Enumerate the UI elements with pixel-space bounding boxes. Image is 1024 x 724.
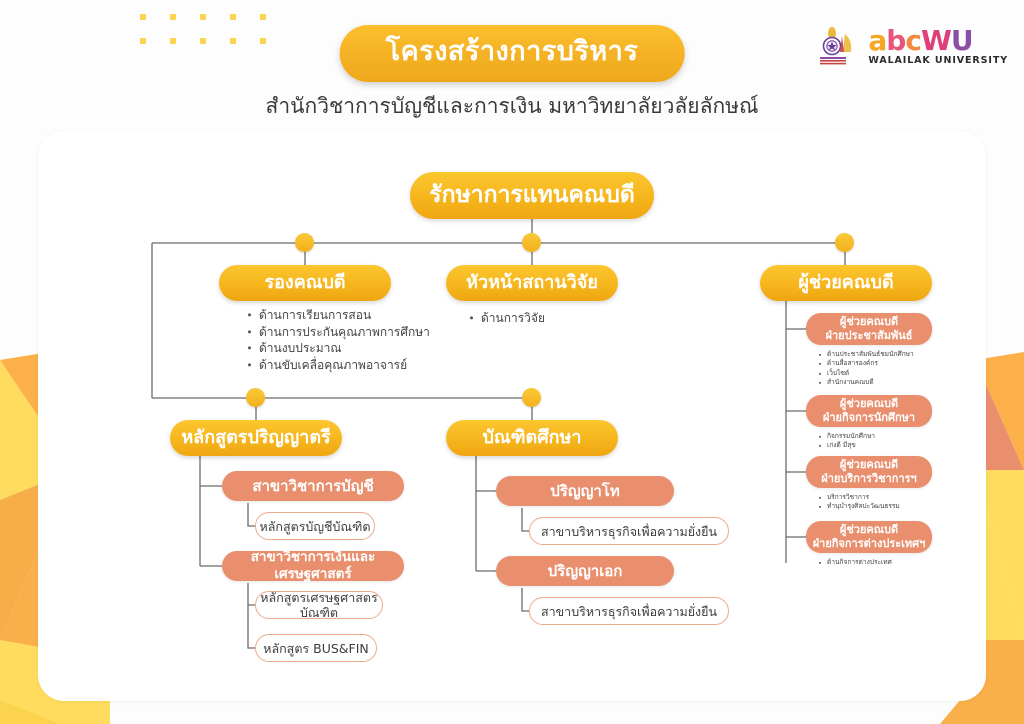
org-chart: รักษาการแทนคณบดี รองคณบดี ด้านการเรียนกา… [0, 0, 1024, 724]
node-line-1: ผู้ช่วยคณบดี [826, 315, 913, 329]
list-item: ด้านการวิจัย [468, 310, 545, 327]
assistant-pr-bullets: ด้านประชาสัมพันธ์ชมนักศึกษา ด้านสื่อสารอ… [818, 350, 914, 388]
node-program-masters-sustainable-business[interactable]: สาขาบริหารธุรกิจเพื่อความยั่งยืน [529, 517, 729, 545]
node-bachelor-programs[interactable]: หลักสูตรปริญญาตรี [170, 420, 342, 456]
vice-dean-bullets: ด้านการเรียนการสอน ด้านการประกันคุณภาพกา… [246, 307, 430, 373]
list-item: เก่งดี มีสุข [818, 441, 875, 450]
node-line-2: ฝ่ายกิจการนักศึกษา [823, 411, 915, 425]
node-line-1: ผู้ช่วยคณบดี [821, 458, 916, 472]
node-assistant-pr[interactable]: ผู้ช่วยคณบดี ฝ่ายประชาสัมพันธ์ [806, 313, 932, 345]
connector-dot-vicedean [295, 233, 314, 252]
node-dept-accounting[interactable]: สาขาวิชาการบัญชี [222, 471, 404, 501]
node-dean[interactable]: รักษาการแทนคณบดี [410, 172, 654, 219]
assistant-student-affairs-bullets: กิจกรรมนักศึกษา เก่งดี มีสุข [818, 432, 875, 451]
connector-dot-graduate [522, 388, 541, 407]
node-masters-degree[interactable]: ปริญญาโท [496, 476, 674, 506]
list-item: ด้านงบประมาณ [246, 340, 430, 357]
list-item: ด้านการประกันคุณภาพการศึกษา [246, 324, 430, 341]
connector-dot-assistant [835, 233, 854, 252]
list-item: กิจกรรมนักศึกษา [818, 432, 875, 441]
node-graduate-studies[interactable]: บัณฑิตศึกษา [446, 420, 618, 456]
node-doctorate-degree[interactable]: ปริญญาเอก [496, 556, 674, 586]
assistant-international-bullets: ด้านกิจการต่างประเทศ [818, 558, 892, 567]
node-line-1: ผู้ช่วยคณบดี [813, 523, 926, 537]
list-item: ด้านขับเคลื่อคุณภาพอาจารย์ [246, 357, 430, 374]
node-line-2: ฝ่ายประชาสัมพันธ์ [826, 329, 913, 343]
list-item: ด้านการเรียนการสอน [246, 307, 430, 324]
list-item: ด้านสื่อสารองค์กร [818, 359, 914, 368]
node-assistant-academic-service[interactable]: ผู้ช่วยคณบดี ฝ่ายบริการวิชาการฯ [806, 456, 932, 488]
node-dept-finance-economics[interactable]: สาขาวิชาการเงินและเศรษฐศาสตร์ [222, 551, 404, 581]
list-item: ด้านกิจการต่างประเทศ [818, 558, 892, 567]
connector-dot-research [522, 233, 541, 252]
node-research-head[interactable]: หัวหน้าสถานวิจัย [446, 265, 618, 301]
list-item: ทำนุบำรุงศิลปะวัฒนธรรม [818, 502, 900, 511]
research-head-bullets: ด้านการวิจัย [468, 310, 545, 327]
list-item: เว็บไซต์ [818, 369, 914, 378]
node-assistant-dean[interactable]: ผู้ช่วยคณบดี [760, 265, 932, 301]
node-assistant-student-affairs[interactable]: ผู้ช่วยคณบดี ฝ่ายกิจการนักศึกษา [806, 395, 932, 427]
node-line-1: ผู้ช่วยคณบดี [823, 397, 915, 411]
connector-dot-bachelor [246, 388, 265, 407]
node-program-bus-fin[interactable]: หลักสูตร BUS&FIN [255, 634, 377, 662]
node-line-2: ฝ่ายบริการวิชาการฯ [821, 472, 916, 486]
node-assistant-international[interactable]: ผู้ช่วยคณบดี ฝ่ายกิจการต่างประเทศฯ [806, 521, 932, 553]
node-vice-dean[interactable]: รองคณบดี [219, 265, 391, 301]
list-item: สำนักงานคณบดี [818, 378, 914, 387]
assistant-academic-service-bullets: บริการวิชาการ ทำนุบำรุงศิลปะวัฒนธรรม [818, 493, 900, 512]
node-program-doctorate-sustainable-business[interactable]: สาขาบริหารธุรกิจเพื่อความยั่งยืน [529, 597, 729, 625]
node-program-accounting-bachelor[interactable]: หลักสูตรบัญชีบัณฑิต [255, 512, 375, 540]
list-item: บริการวิชาการ [818, 493, 900, 502]
node-program-economics-bachelor[interactable]: หลักสูตรเศรษฐศาสตรบัณฑิต [255, 591, 383, 619]
node-line-2: ฝ่ายกิจการต่างประเทศฯ [813, 537, 926, 551]
list-item: ด้านประชาสัมพันธ์ชมนักศึกษา [818, 350, 914, 359]
